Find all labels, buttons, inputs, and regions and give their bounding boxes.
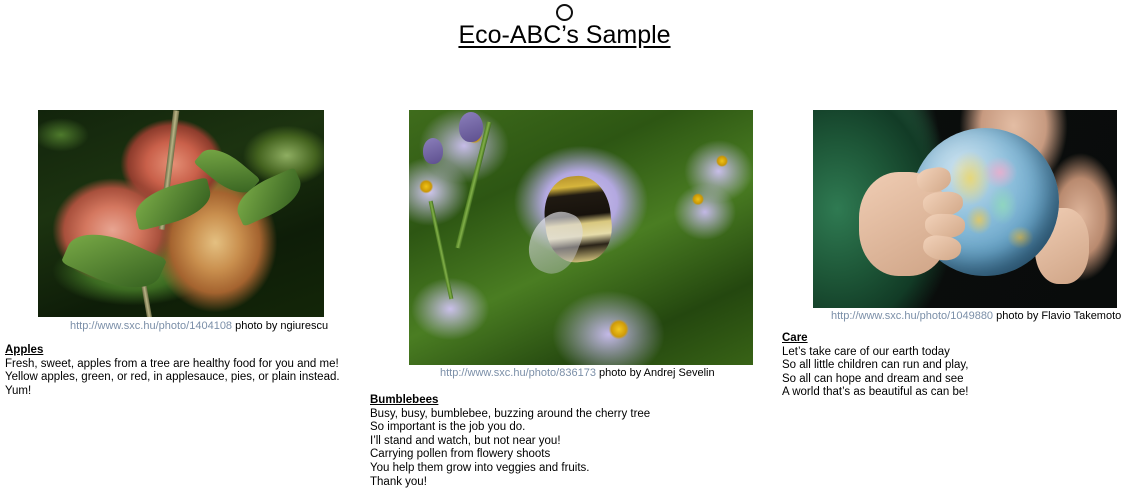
apples-line-1: Fresh, sweet, apples from a tree are hea…: [5, 358, 340, 372]
stem-shape: [429, 201, 454, 300]
bumblebees-text-block: Bumblebees Busy, busy, bumblebee, buzzin…: [370, 394, 650, 489]
bumblebees-line-4: Carrying pollen from flowery shoots: [370, 448, 650, 462]
leaf-shape: [61, 220, 167, 301]
flower-bud-shape: [423, 138, 443, 164]
care-line-4: A world that’s as beautiful as can be!: [782, 386, 968, 400]
apples-line-2: Yellow apples, green, or red, in applesa…: [5, 371, 340, 385]
globe-photo-credit: photo by Flavio Takemoto: [993, 310, 1121, 322]
globe-photo-caption: http://www.sxc.hu/photo/1049880 photo by…: [831, 310, 1121, 323]
bumblebees-line-3: I’ll stand and watch, but not near you!: [370, 435, 650, 449]
bumblebees-heading: Bumblebees: [370, 394, 650, 408]
bumblebees-line-6: Thank you!: [370, 476, 650, 490]
bumblebees-line-5: You help them grow into veggies and frui…: [370, 462, 650, 476]
globe-photo-url[interactable]: http://www.sxc.hu/photo/1049880: [831, 310, 993, 322]
apples-photo-url[interactable]: http://www.sxc.hu/photo/1404108: [70, 320, 232, 332]
page-title-area: Eco-ABC’s Sample: [0, 4, 1129, 48]
bumblebee-photo-credit: photo by Andrej Sevelin: [596, 367, 715, 379]
apples-on-tree-photo: [38, 110, 324, 317]
circle-ornament-icon: [556, 4, 573, 21]
apples-photo-credit: photo by ngiurescu: [232, 320, 328, 332]
apples-photo-caption: http://www.sxc.hu/photo/1404108 photo by…: [70, 320, 328, 333]
bumblebee-photo-caption: http://www.sxc.hu/photo/836173 photo by …: [440, 367, 715, 380]
leaf-shape: [131, 177, 215, 231]
care-line-2: So all little children can run and play,: [782, 359, 968, 373]
bumblebee-on-flower-photo: [409, 110, 753, 365]
bumblebee-photo-url[interactable]: http://www.sxc.hu/photo/836173: [440, 367, 596, 379]
flower-bud-shape: [459, 112, 483, 142]
child-holding-globe-photo: [813, 110, 1117, 308]
bumblebees-line-2: So important is the job you do.: [370, 421, 650, 435]
bumblebees-line-1: Busy, busy, bumblebee, buzzing around th…: [370, 408, 650, 422]
apples-text-block: Apples Fresh, sweet, apples from a tree …: [5, 344, 340, 398]
care-line-1: Let’s take care of our earth today: [782, 346, 968, 360]
page-title: Eco-ABC’s Sample: [458, 22, 670, 48]
care-text-block: Care Let’s take care of our earth today …: [782, 332, 968, 400]
care-heading: Care: [782, 332, 968, 346]
care-line-3: So all can hope and dream and see: [782, 373, 968, 387]
apples-line-3: Yum!: [5, 385, 340, 399]
apples-heading: Apples: [5, 344, 340, 358]
